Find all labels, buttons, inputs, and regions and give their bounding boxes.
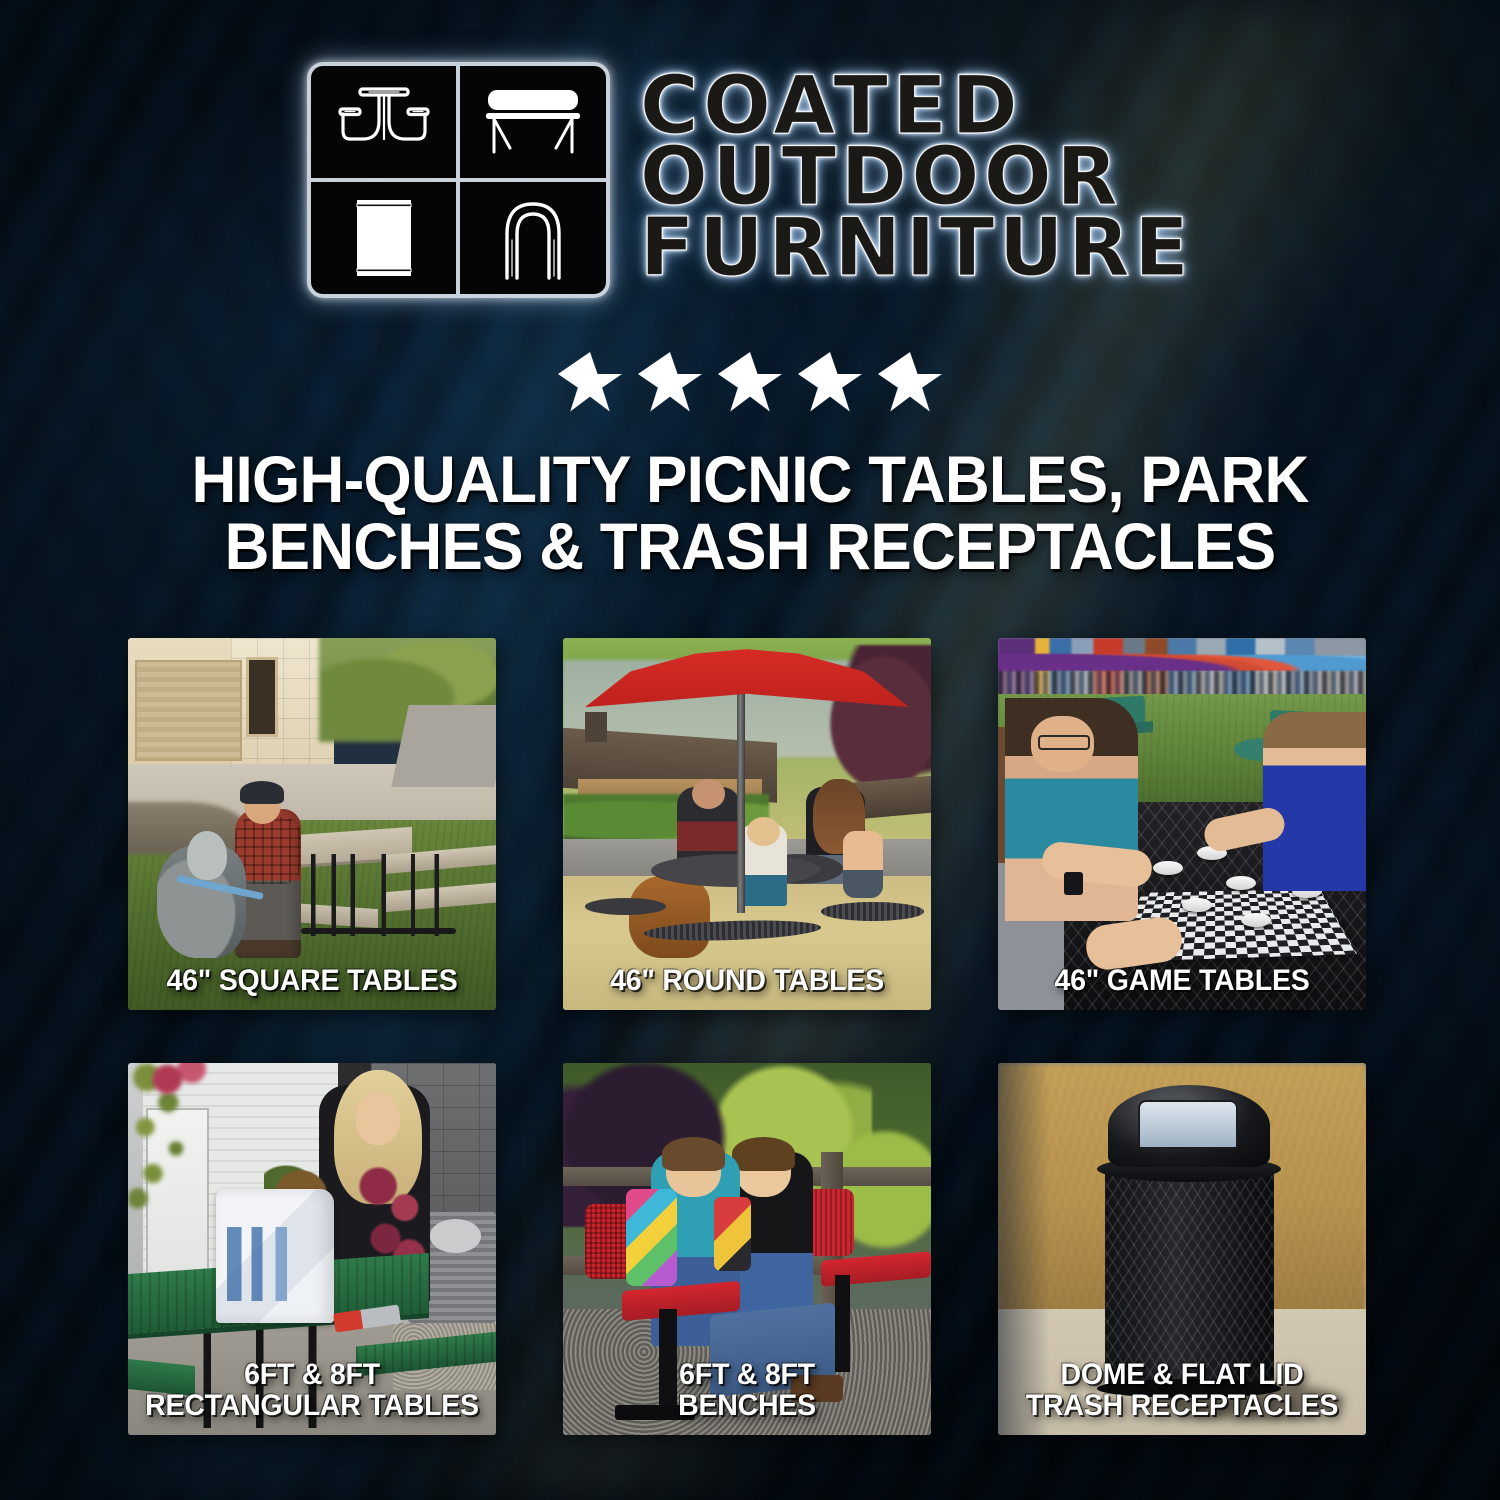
product-label-line-2: TRASH RECEPTACLES — [1013, 1390, 1351, 1421]
product-label-line-1: 6FT & 8FT — [679, 1358, 815, 1391]
product-label: 6FT & 8FT RECTANGULAR TABLES — [143, 1359, 481, 1421]
star-icon-2 — [638, 352, 702, 414]
page-title: HIGH-QUALITY PICNIC TABLES, PARK BENCHES… — [101, 446, 1398, 581]
brand-logo-mark[interactable] — [307, 62, 610, 298]
product-photo-game-tables — [998, 638, 1366, 1010]
product-label: DOME & FLAT LID TRASH RECEPTACLES — [1013, 1359, 1351, 1421]
headline-line-2: BENCHES & TRASH RECEPTACLES — [101, 513, 1398, 580]
product-label-line-2: RECTANGULAR TABLES — [143, 1390, 481, 1421]
product-label-line-2: BENCHES — [578, 1390, 916, 1421]
product-photo-round-tables — [563, 638, 931, 1010]
product-label: 6FT & 8FT BENCHES — [578, 1359, 916, 1421]
star-rating — [0, 352, 1500, 414]
headline-line-1: HIGH-QUALITY PICNIC TABLES, PARK — [101, 446, 1398, 513]
star-icon-1 — [558, 352, 622, 414]
product-card-round-tables[interactable]: 46" ROUND TABLES — [563, 638, 931, 1010]
product-banner: COATED OUTDOOR FURNITURE HIGH-QUALITY PI… — [0, 0, 1500, 1500]
brand-wordmark: COATED OUTDOOR FURNITURE — [640, 62, 1193, 288]
brand-header: COATED OUTDOOR FURNITURE — [0, 62, 1500, 298]
star-icon-4 — [798, 352, 862, 414]
picnic-table-icon — [311, 66, 457, 178]
product-card-rectangular-tables[interactable]: 6FT & 8FT RECTANGULAR TABLES — [128, 1063, 496, 1435]
product-card-trash-receptacles[interactable]: DOME & FLAT LID TRASH RECEPTACLES — [998, 1063, 1366, 1435]
product-label: 46" GAME TABLES — [1013, 965, 1351, 996]
star-icon-3 — [718, 352, 782, 414]
product-label: 46" ROUND TABLES — [578, 965, 916, 996]
product-label-line-1: 6FT & 8FT — [244, 1358, 380, 1391]
product-card-square-tables[interactable]: 46" SQUARE TABLES — [128, 638, 496, 1010]
brand-line-3: FURNITURE — [640, 208, 1193, 287]
star-icon-5 — [878, 352, 942, 414]
product-label-line-1: 46" SQUARE TABLES — [167, 964, 458, 997]
product-photo-square-tables — [128, 638, 496, 1010]
product-label: 46" SQUARE TABLES — [143, 965, 481, 996]
product-label-line-1: 46" ROUND TABLES — [610, 964, 884, 997]
product-card-benches[interactable]: 6FT & 8FT BENCHES — [563, 1063, 931, 1435]
product-label-line-1: 46" GAME TABLES — [1054, 964, 1309, 997]
bike-rack-icon — [460, 182, 606, 294]
trash-receptacle-icon — [311, 182, 457, 294]
product-card-game-tables[interactable]: 46" GAME TABLES — [998, 638, 1366, 1010]
product-grid: 46" SQUARE TABLES 46" ROUND TABLES — [128, 638, 1376, 1435]
product-label-line-1: DOME & FLAT LID — [1060, 1358, 1303, 1391]
bench-icon — [460, 66, 606, 178]
